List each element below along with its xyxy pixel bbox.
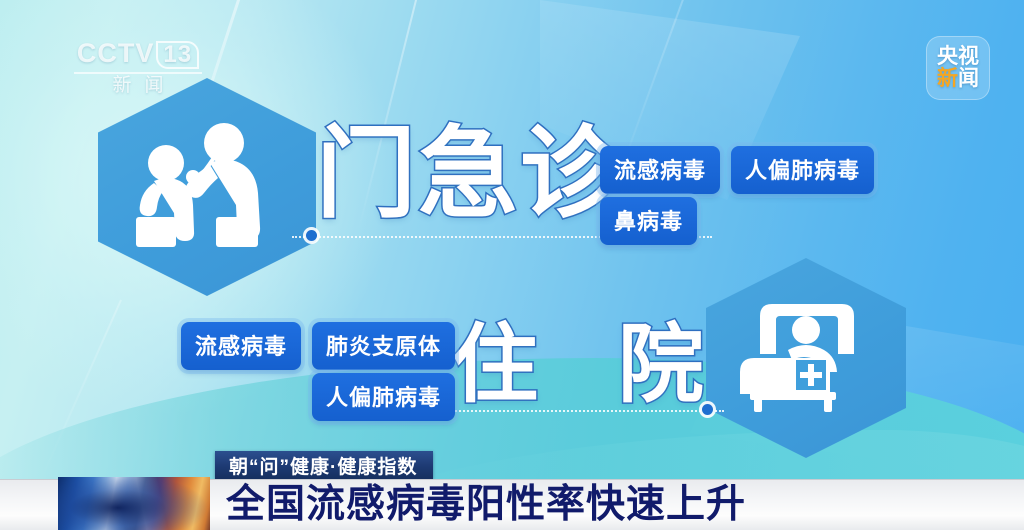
cctv-logo-main-text: CCTV <box>77 38 155 68</box>
program-label-banner: 朝“问”健康·健康指数 <box>215 451 433 479</box>
outpatient-heading: 门急诊 <box>316 124 622 224</box>
cctv-logo-text: CCTV13 <box>58 40 218 69</box>
cctv-news-watermark: 央视 新闻 <box>926 36 990 100</box>
inpatient-tag-metapneumovirus: 人偏肺病毒 <box>312 373 455 421</box>
watermark-accent-char: 新 <box>937 67 958 90</box>
watermark-rest-char: 闻 <box>958 67 979 90</box>
outpatient-tag-influenza: 流感病毒 <box>600 146 720 194</box>
inpatient-tag-mycoplasma: 肺炎支原体 <box>312 322 455 370</box>
decorative-corner-graphic <box>58 477 210 530</box>
outpatient-icon-hexagon <box>98 78 316 296</box>
outpatient-tag-rhinovirus: 鼻病毒 <box>600 197 697 245</box>
cctv-logo-number: 13 <box>156 41 199 69</box>
inpatient-tag-influenza: 流感病毒 <box>181 322 301 370</box>
doctor-patient-exam-icon <box>132 117 282 257</box>
hospital-bed-patient-icon <box>740 298 872 418</box>
inpatient-heading: 住 院 <box>452 322 732 408</box>
inpatient-connector-line <box>412 410 724 412</box>
watermark-line-two: 新闻 <box>937 68 979 90</box>
cctv-logo-divider <box>74 72 202 74</box>
news-headline: 全国流感病毒阳性率快速上升 <box>226 481 746 528</box>
outpatient-connector-dot <box>306 230 317 241</box>
watermark-line-one: 央视 <box>937 46 979 68</box>
inpatient-icon-hexagon <box>706 258 906 458</box>
background-streak <box>39 300 122 484</box>
outpatient-tag-metapneumovirus: 人偏肺病毒 <box>731 146 874 194</box>
broadcast-graphic-frame: CCTV13 新闻 央视 新闻 <box>0 0 1024 530</box>
inpatient-connector-dot <box>702 404 713 415</box>
